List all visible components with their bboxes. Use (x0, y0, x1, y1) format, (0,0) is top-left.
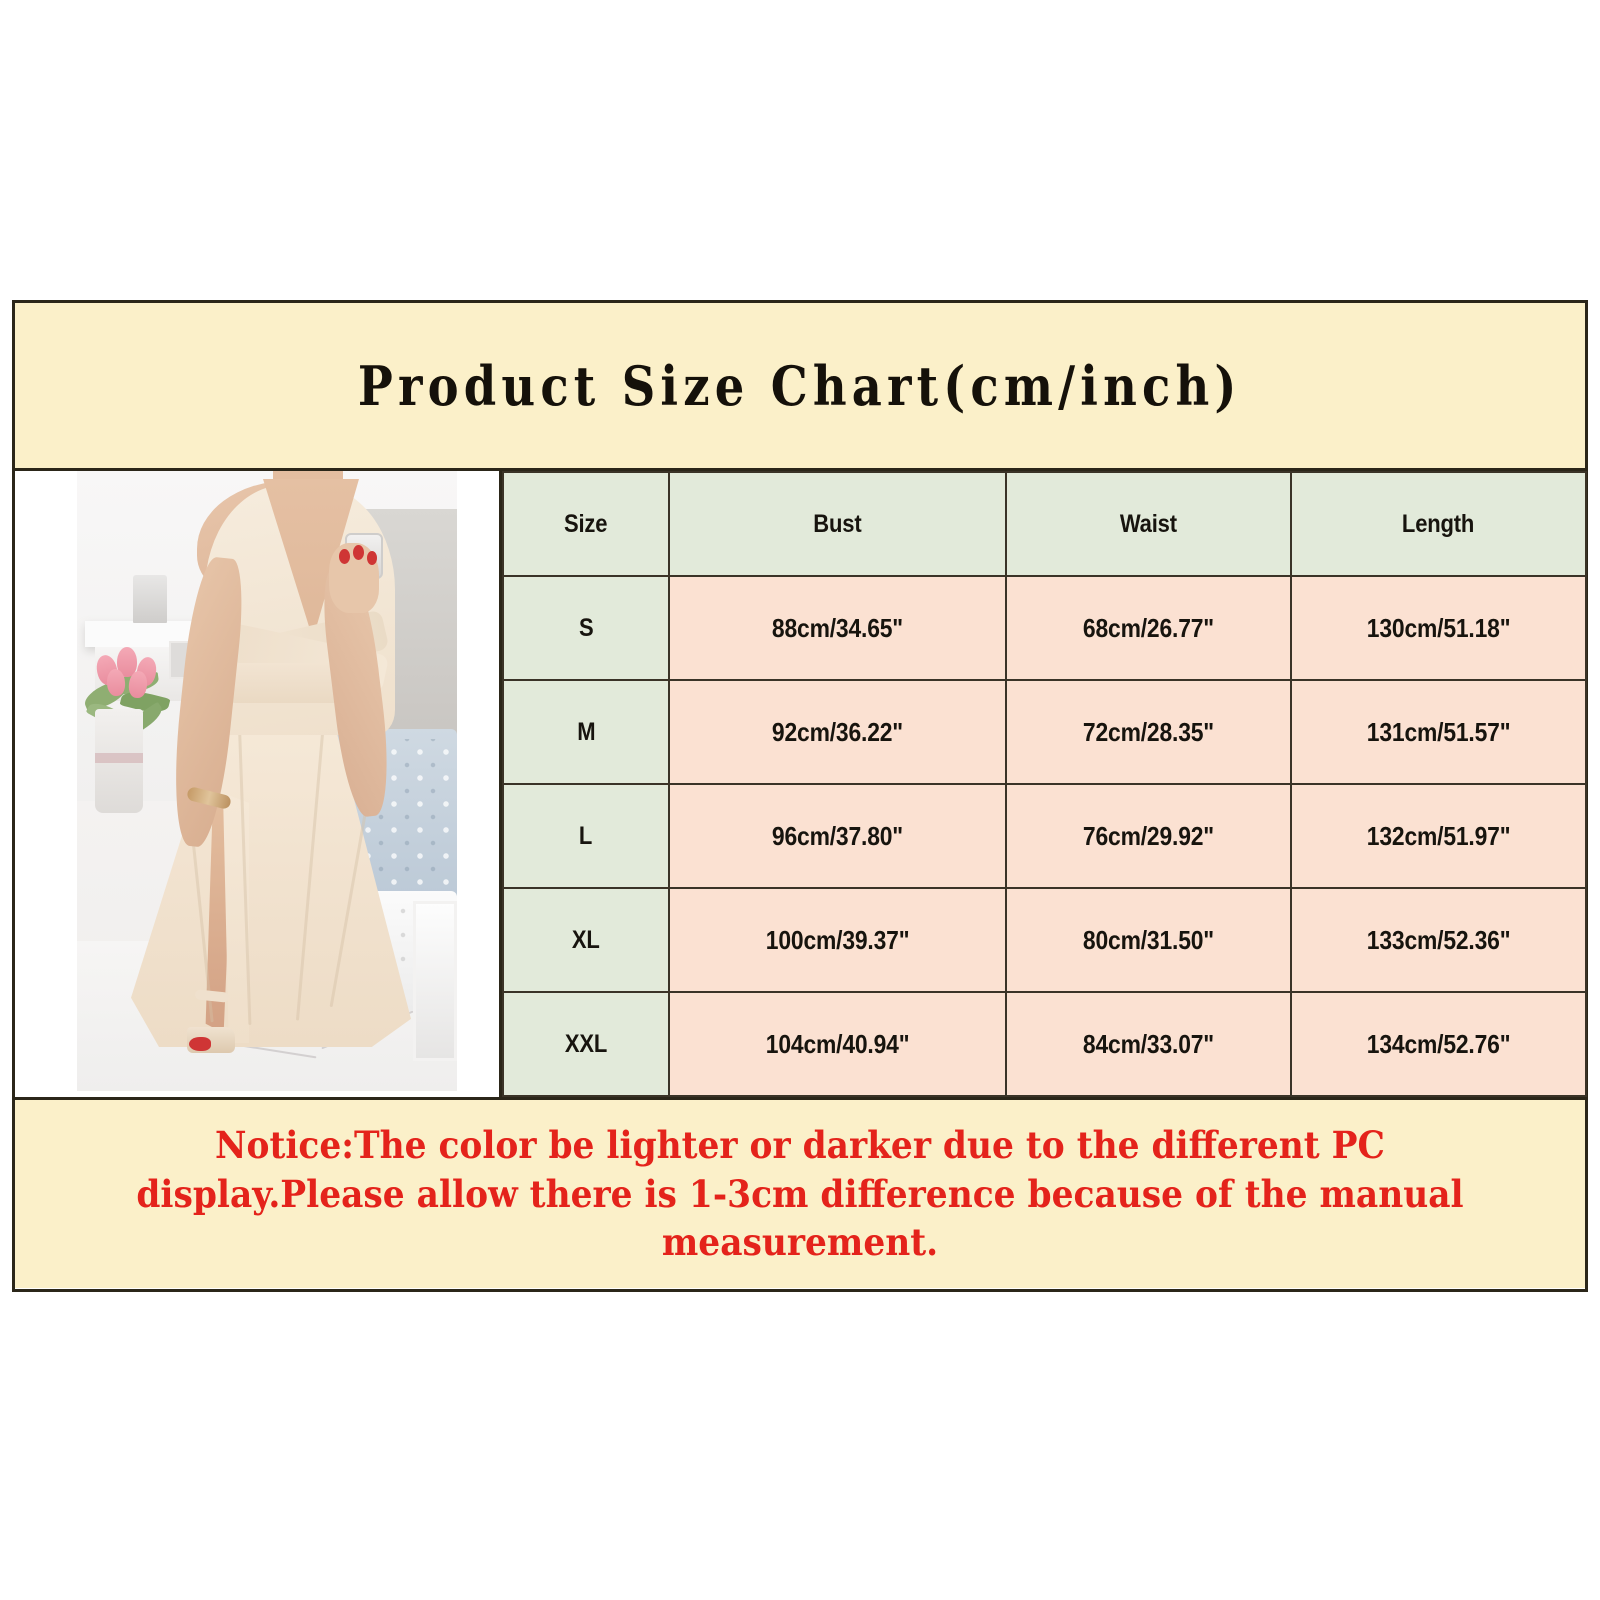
column-header-size-label: Size (564, 510, 607, 539)
cell-size: L (503, 784, 669, 888)
product-photo (77, 471, 457, 1091)
page-title: Product Size Chart(cm/inch) (358, 354, 1242, 418)
cell-size: XXL (503, 992, 669, 1096)
cell-size: S (503, 576, 669, 680)
cell-bust: 88cm/34.65" (669, 576, 1006, 680)
cell-waist-value: 72cm/28.35" (1083, 717, 1214, 748)
cell-length: 132cm/51.97" (1291, 784, 1586, 888)
size-table: Size Bust Waist Length S 88cm/34.65" 68c… (502, 471, 1587, 1097)
table-row: M 92cm/36.22" 72cm/28.35" 131cm/51.57" (503, 680, 1586, 784)
chart-body: Size Bust Waist Length S 88cm/34.65" 68c… (15, 471, 1585, 1100)
column-header-length-label: Length (1402, 510, 1474, 539)
cell-waist: 80cm/31.50" (1006, 888, 1291, 992)
cell-bust: 92cm/36.22" (669, 680, 1006, 784)
cell-length-value: 134cm/52.76" (1367, 1029, 1511, 1060)
cell-bust: 96cm/37.80" (669, 784, 1006, 888)
cell-length-value: 133cm/52.36" (1367, 925, 1511, 956)
table-header-row: Size Bust Waist Length (503, 472, 1586, 576)
notice-band: Notice:The color be lighter or darker du… (15, 1100, 1585, 1288)
cell-length-value: 130cm/51.18" (1367, 613, 1511, 644)
cell-length: 131cm/51.57" (1291, 680, 1586, 784)
cell-bust-value: 88cm/34.65" (772, 613, 903, 644)
cell-bust-value: 104cm/40.94" (766, 1029, 910, 1060)
photo-red-nail (367, 551, 377, 565)
cell-waist-value: 76cm/29.92" (1083, 821, 1214, 852)
cell-waist: 68cm/26.77" (1006, 576, 1291, 680)
table-row: L 96cm/37.80" 76cm/29.92" 132cm/51.97" (503, 784, 1586, 888)
cell-length: 133cm/52.36" (1291, 888, 1586, 992)
column-header-size: Size (503, 472, 669, 576)
photo-red-nail (339, 549, 350, 564)
cell-waist: 84cm/33.07" (1006, 992, 1291, 1096)
table-row: S 88cm/34.65" 68cm/26.77" 130cm/51.18" (503, 576, 1586, 680)
cell-size-value: M (577, 718, 595, 747)
cell-length-value: 131cm/51.57" (1367, 717, 1511, 748)
photo-stool-leg (413, 901, 457, 1061)
photo-lamp (133, 575, 167, 623)
cell-size-value: XL (572, 926, 600, 955)
column-header-length: Length (1291, 472, 1586, 576)
table-row: XL 100cm/39.37" 80cm/31.50" 133cm/52.36" (503, 888, 1586, 992)
title-band: Product Size Chart(cm/inch) (15, 303, 1585, 471)
cell-waist-value: 84cm/33.07" (1083, 1029, 1214, 1060)
cell-size-value: L (579, 822, 592, 851)
column-header-bust-label: Bust (813, 510, 861, 539)
cell-waist-value: 68cm/26.77" (1083, 613, 1214, 644)
table-row: XXL 104cm/40.94" 84cm/33.07" 134cm/52.76… (503, 992, 1586, 1096)
photo-red-pedicure (189, 1037, 211, 1051)
notice-text: Notice:The color be lighter or darker du… (120, 1121, 1480, 1267)
column-header-waist: Waist (1006, 472, 1291, 576)
cell-size: XL (503, 888, 669, 992)
cell-length: 134cm/52.76" (1291, 992, 1586, 1096)
cell-bust-value: 100cm/39.37" (766, 925, 910, 956)
photo-red-nail (353, 545, 364, 560)
photo-vase-band (95, 753, 143, 763)
product-photo-cell (15, 471, 502, 1097)
cell-size: M (503, 680, 669, 784)
cell-size-value: S (579, 614, 594, 643)
cell-waist: 72cm/28.35" (1006, 680, 1291, 784)
cell-length-value: 132cm/51.97" (1367, 821, 1511, 852)
cell-bust-value: 92cm/36.22" (772, 717, 903, 748)
cell-bust: 104cm/40.94" (669, 992, 1006, 1096)
column-header-bust: Bust (669, 472, 1006, 576)
cell-size-value: XXL (565, 1030, 607, 1059)
cell-bust-value: 96cm/37.80" (772, 821, 903, 852)
size-chart-card: Product Size Chart(cm/inch) (12, 300, 1588, 1292)
cell-bust: 100cm/39.37" (669, 888, 1006, 992)
cell-length: 130cm/51.18" (1291, 576, 1586, 680)
column-header-waist-label: Waist (1120, 510, 1177, 539)
cell-waist-value: 80cm/31.50" (1083, 925, 1214, 956)
cell-waist: 76cm/29.92" (1006, 784, 1291, 888)
